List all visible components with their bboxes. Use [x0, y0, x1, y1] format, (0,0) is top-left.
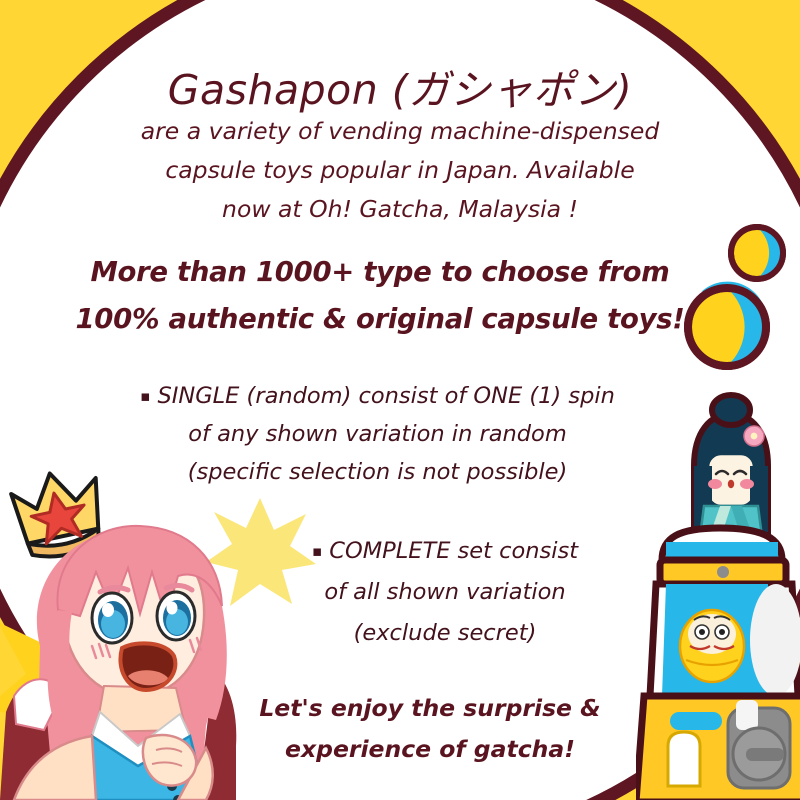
bullet-complete-text-1: COMPLETE set consist [329, 538, 578, 564]
bullet-single: ▪ SINGLE (random) consist of ONE (1) spi… [105, 377, 650, 491]
highlight-block: More than 1000+ type to choose from 100%… [40, 249, 720, 343]
bullet-complete-line-3: (exclude secret) [245, 613, 645, 654]
highlight-line-2: 100% authentic & original capsule toys! [40, 296, 720, 343]
lede-paragraph: are a variety of vending machine-dispens… [100, 112, 700, 229]
bullet-single-line-3: (specific selection is not possible) [105, 453, 650, 491]
page-title: Gashapon (ガシャポン) [0, 56, 800, 116]
bullet-single-line-1: ▪ SINGLE (random) consist of ONE (1) spi… [105, 377, 650, 415]
closing-message: Let's enjoy the surprise & experience of… [230, 688, 630, 770]
closing-line-2: experience of gatcha! [230, 729, 630, 770]
lede-line-3: now at Oh! Gatcha, Malaysia ! [100, 190, 700, 229]
bullet-single-line-2: of any shown variation in random [105, 415, 650, 453]
bullet-marker-icon: ▪ [140, 387, 150, 405]
capsule-ball-small-icon [726, 222, 788, 284]
closing-line-1: Let's enjoy the surprise & [230, 688, 630, 729]
gashapon-machine-icon [636, 520, 800, 800]
highlight-line-1: More than 1000+ type to choose from [40, 249, 720, 296]
lede-line-1: are a variety of vending machine-dispens… [100, 112, 700, 151]
anime-girl-icon [0, 498, 260, 800]
lede-line-2: capsule toys popular in Japan. Available [100, 151, 700, 190]
poster-root: Gashapon (ガシャポン) are a variety of vendin… [0, 0, 800, 800]
bullet-single-text-1: SINGLE (random) consist of ONE (1) spin [157, 383, 614, 409]
